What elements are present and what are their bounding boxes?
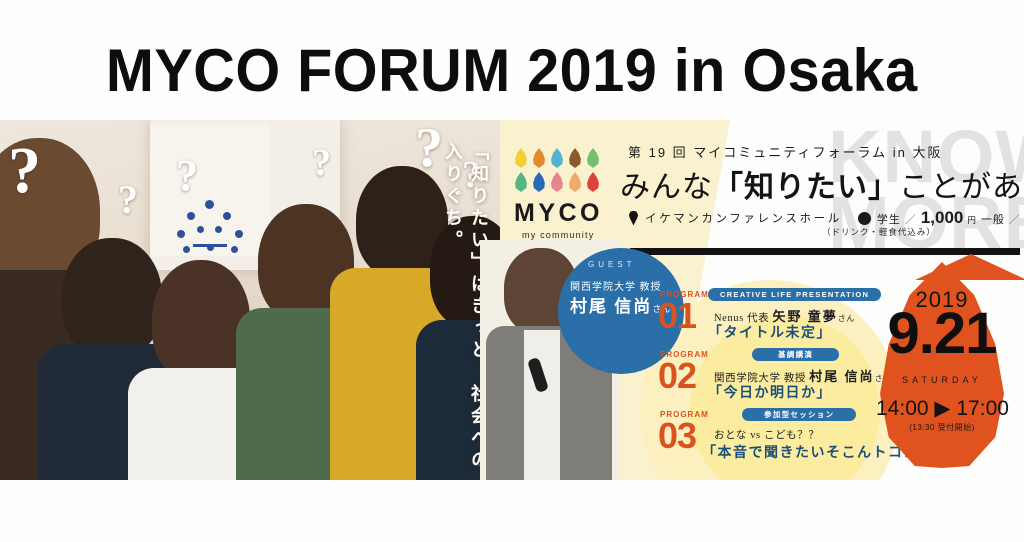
program-title: 「タイトル未定」 <box>708 322 832 342</box>
location-pin-icon <box>628 211 639 226</box>
venue-name: イケマンカンファレンスホール <box>645 210 842 226</box>
date-day: 9.21 <box>876 305 1008 363</box>
page-title: MYCO FORUM 2019 in Osaka <box>0 30 1024 112</box>
date-reception-note: (13:30 受付開始) <box>880 422 1004 433</box>
program-badge: CREATIVE LIFE PRESENTATION <box>708 288 881 301</box>
question-mark-icon: ? <box>118 180 138 220</box>
droplet-icon <box>514 148 528 168</box>
droplet-icon <box>514 172 528 192</box>
droplet-icon <box>550 148 564 168</box>
date-weekday: SATURDAY <box>880 375 1004 385</box>
droplet-icon <box>550 172 564 192</box>
question-mark-icon: ? <box>8 138 41 204</box>
price-sep-2: ／ <box>1009 211 1021 227</box>
photo-blue-graphic <box>175 200 245 255</box>
poster-canvas: MYCO FORUM 2019 in Osaka <box>0 0 1024 542</box>
guest-name: 村尾 信尚さん <box>570 292 670 317</box>
droplet-icon <box>532 172 546 192</box>
edition-line: 第 19 回 マイコミュニティフォーラム in 大阪 <box>628 142 942 161</box>
logo-droplets <box>514 148 624 192</box>
program-number: 02 <box>658 358 696 394</box>
program-number: 01 <box>658 298 696 334</box>
question-mark-icon: ? <box>176 154 198 198</box>
program-badge: 基調講演 <box>752 348 839 361</box>
headline-pre: みんな <box>620 171 713 204</box>
ticket-dot-icon <box>858 212 871 225</box>
droplet-icon <box>568 148 582 168</box>
logo-droplet-row-2 <box>514 172 624 192</box>
divider-bar <box>630 248 1020 255</box>
program-item[interactable]: PROGRAM 02 基調講演 関西学院大学 教授 村尾 信尚さん 「今日か明日… <box>660 346 910 404</box>
price-block: 学生 ／ 1,000 円 一般 ／ 2,000 円 <box>877 208 1024 228</box>
program-speaker-prefix: おとな vs こども？？ <box>714 430 819 441</box>
question-mark-icon: ? <box>312 144 331 182</box>
program-item[interactable]: PROGRAM 01 CREATIVE LIFE PRESENTATION Ne… <box>660 286 910 344</box>
guest-shirt <box>524 330 560 480</box>
program-speaker: おとな vs こども？？ <box>714 426 819 442</box>
price-student-yen: 円 <box>967 214 977 226</box>
droplet-icon <box>532 148 546 168</box>
date-time-range: 14:00 ▶ 17:00 <box>876 396 1008 421</box>
droplet-icon <box>586 148 600 168</box>
price-general-label: 一般 <box>981 211 1005 227</box>
logo-wordmark: MYCO <box>514 199 624 228</box>
droplet-icon <box>568 172 582 192</box>
event-banner: ? ? ? ? ? ? WANT TO 「知りたい」はきっと、社会への入りぐち。… <box>0 120 1024 480</box>
headline-post: ことがある。 <box>899 171 1024 204</box>
headline-main: みんな「知りたい」ことがある。 <box>620 162 1024 206</box>
guest-affiliation: 関西学院大学 教授 <box>570 278 662 293</box>
logo-tagline: my community <box>522 230 624 240</box>
droplet-icon <box>586 172 600 192</box>
guest-name-text: 村尾 信尚 <box>570 297 652 316</box>
audience-photo: ? ? ? ? ? ? WANT TO 「知りたい」はきっと、社会への入りぐち。 <box>0 120 500 480</box>
price-sep-1: ／ <box>905 211 917 227</box>
price-student-value: 1,000 <box>921 208 964 228</box>
price-note: （ドリンク・軽食代込み） <box>822 226 936 238</box>
price-student-label: 学生 <box>877 211 901 227</box>
photo-person-2-head <box>62 238 162 358</box>
page-title-text: MYCO FORUM 2019 in Osaka <box>106 41 918 101</box>
program-number: 03 <box>658 418 696 454</box>
logo-droplet-row-1 <box>514 148 624 168</box>
program-speaker-honorific: さん <box>838 314 855 323</box>
myco-logo: MYCO my community <box>514 148 624 240</box>
program-item[interactable]: PROGRAM 03 参加型セッション おとな vs こども？？ 「本音で聞きた… <box>660 406 910 464</box>
program-title: 「今日か明日か」 <box>708 382 832 402</box>
headline-bold: 「知りたい」 <box>713 171 899 204</box>
program-badge: 参加型セッション <box>742 408 856 421</box>
question-mark-icon: ? <box>415 120 443 176</box>
guest-tag-label: GUEST <box>588 260 636 269</box>
venue-price-line: イケマンカンファレンスホール 学生 ／ 1,000 円 一般 ／ 2,000 円 <box>628 208 1024 228</box>
